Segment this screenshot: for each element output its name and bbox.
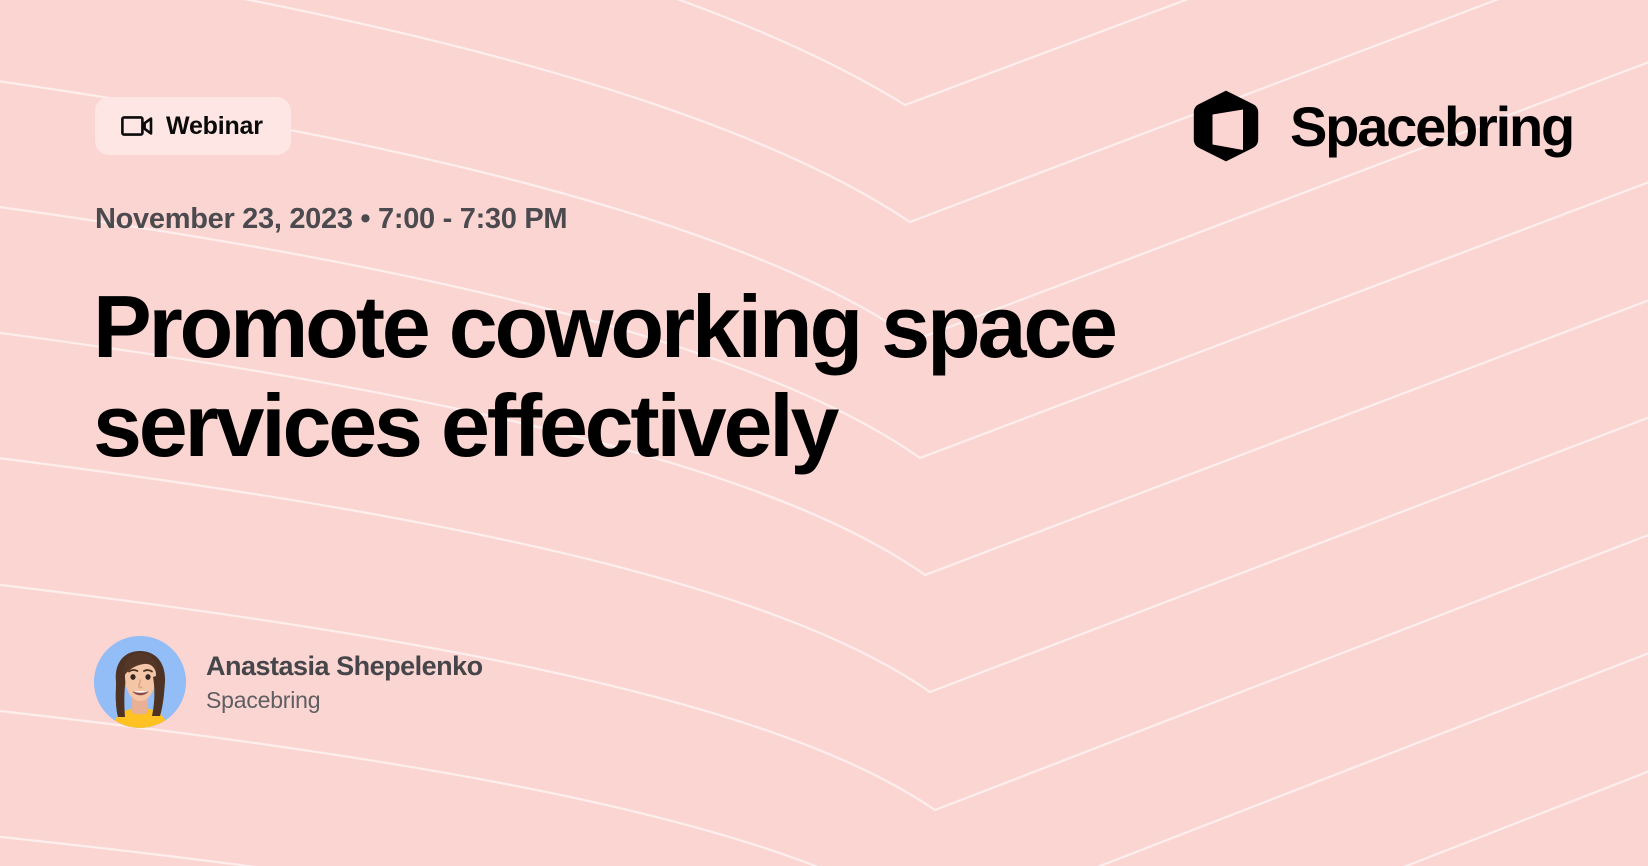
event-date-time: November 23, 2023 • 7:00 - 7:30 PM <box>95 203 567 236</box>
video-camera-icon <box>121 115 153 137</box>
page-title: Promote coworking space services effecti… <box>93 277 1343 476</box>
brand-logo: Spacebring <box>1188 88 1573 164</box>
speaker-text: Anastasia Shepelenko Spacebring <box>206 651 483 714</box>
webinar-badge-label: Webinar <box>166 112 263 141</box>
webinar-promo-card: Webinar November 23, 2023 • 7:00 - 7:30 … <box>0 0 1648 866</box>
speaker-organization: Spacebring <box>206 687 483 714</box>
page-title-line-2: services effectively <box>93 376 1343 475</box>
spacebring-cube-icon <box>1188 88 1264 164</box>
webinar-badge: Webinar <box>95 97 291 155</box>
page-title-line-1: Promote coworking space <box>93 277 1343 376</box>
brand-wordmark: Spacebring <box>1290 94 1573 159</box>
speaker-name: Anastasia Shepelenko <box>206 651 483 682</box>
avatar <box>94 636 186 728</box>
speaker-block: Anastasia Shepelenko Spacebring <box>94 636 483 728</box>
